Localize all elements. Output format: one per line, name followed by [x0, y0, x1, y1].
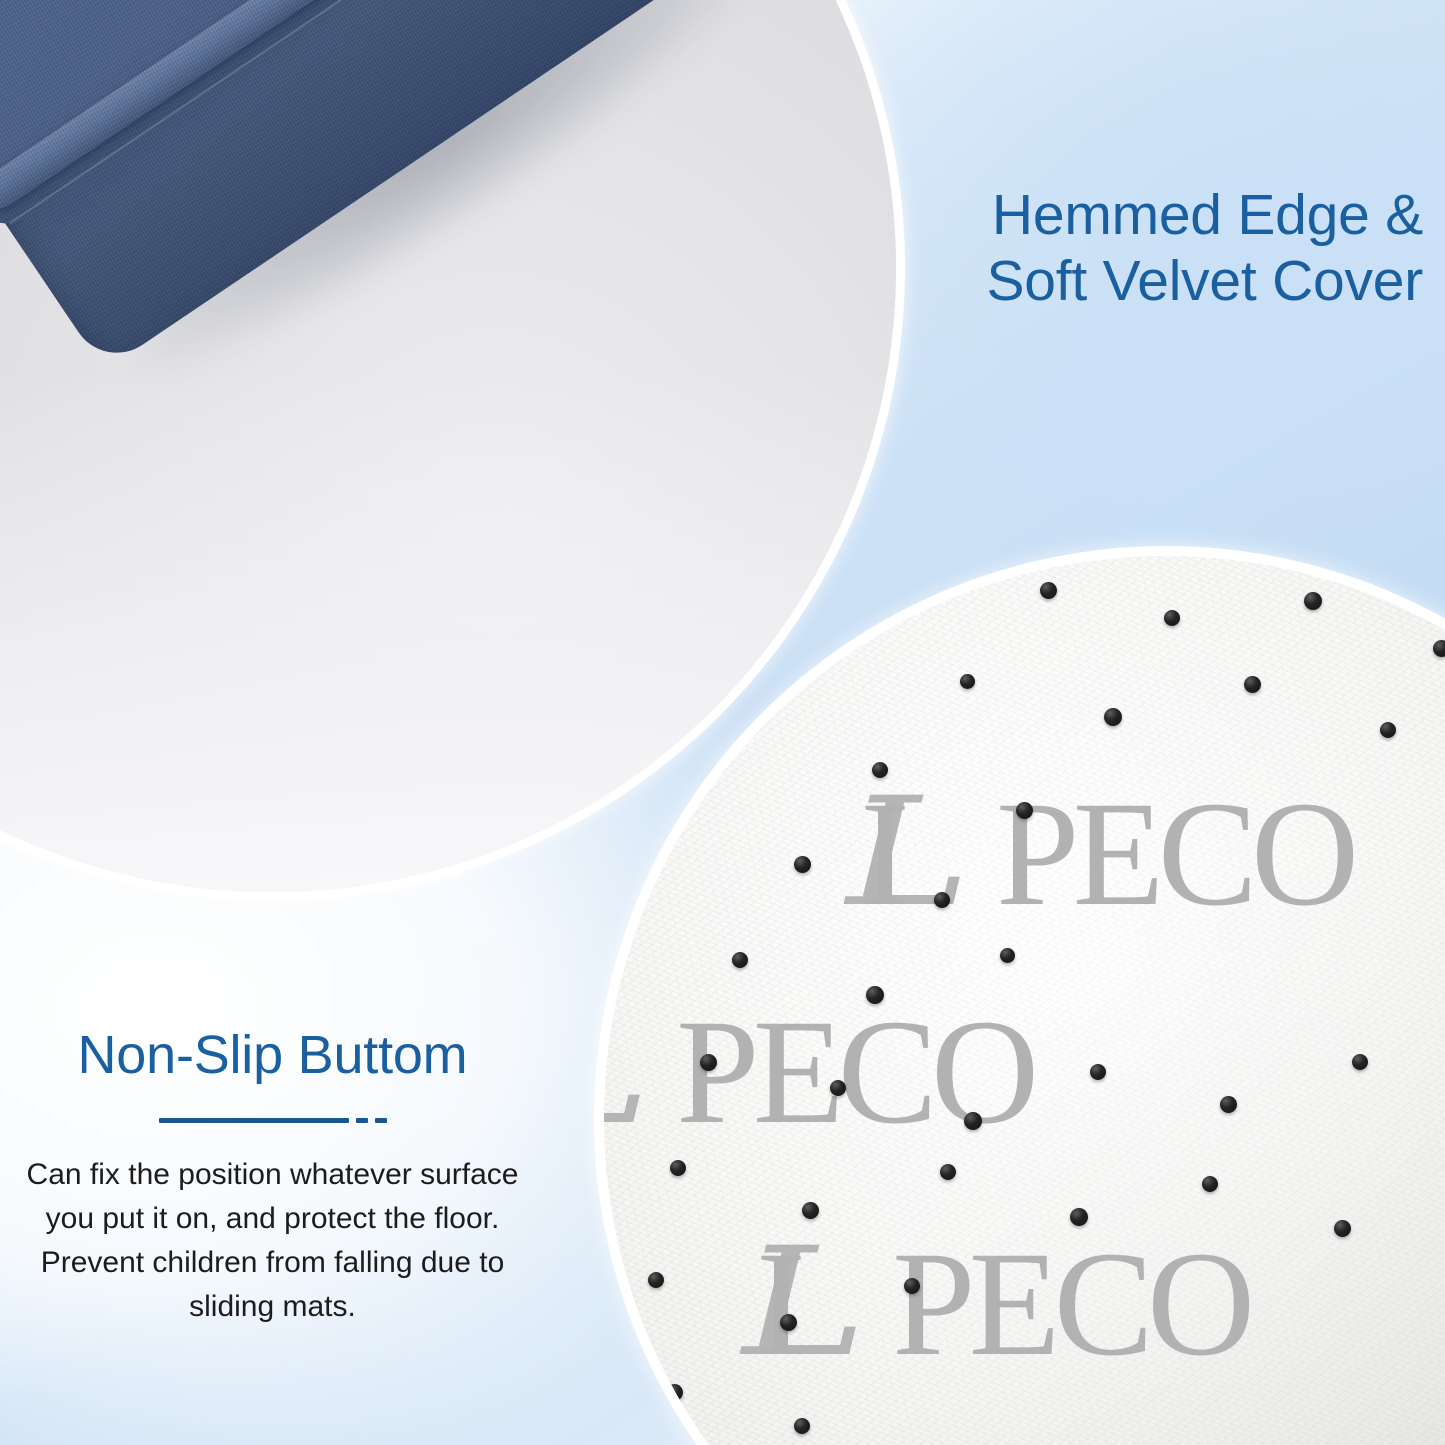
feature-description: Can fix the position whatever surface yo…	[0, 1153, 545, 1328]
photo-nonslip-mat: ILPECO ILPECO ILPECO	[604, 556, 1445, 1445]
divider-bar	[159, 1118, 349, 1123]
feature-divider	[0, 1118, 545, 1123]
feature-title: Non-Slip Buttom	[0, 1026, 545, 1085]
headline: Hemmed Edge & Soft Velvet Cover	[723, 182, 1423, 314]
infographic-canvas: ILPECO ILPECO ILPECO Hemmed Edge & Soft …	[0, 0, 1445, 1445]
headline-line-2: Soft Velvet Cover	[723, 248, 1423, 314]
feature-block: Non-Slip Buttom Can fix the position wha…	[0, 1026, 545, 1329]
brand-watermark: ILPECO	[604, 996, 1033, 1147]
brand-watermark: ILPECO	[860, 778, 1353, 929]
headline-line-1: Hemmed Edge &	[723, 182, 1423, 248]
brand-watermark: ILPECO	[756, 1228, 1249, 1379]
divider-dash-1	[356, 1118, 368, 1123]
divider-dash-2	[375, 1118, 387, 1123]
